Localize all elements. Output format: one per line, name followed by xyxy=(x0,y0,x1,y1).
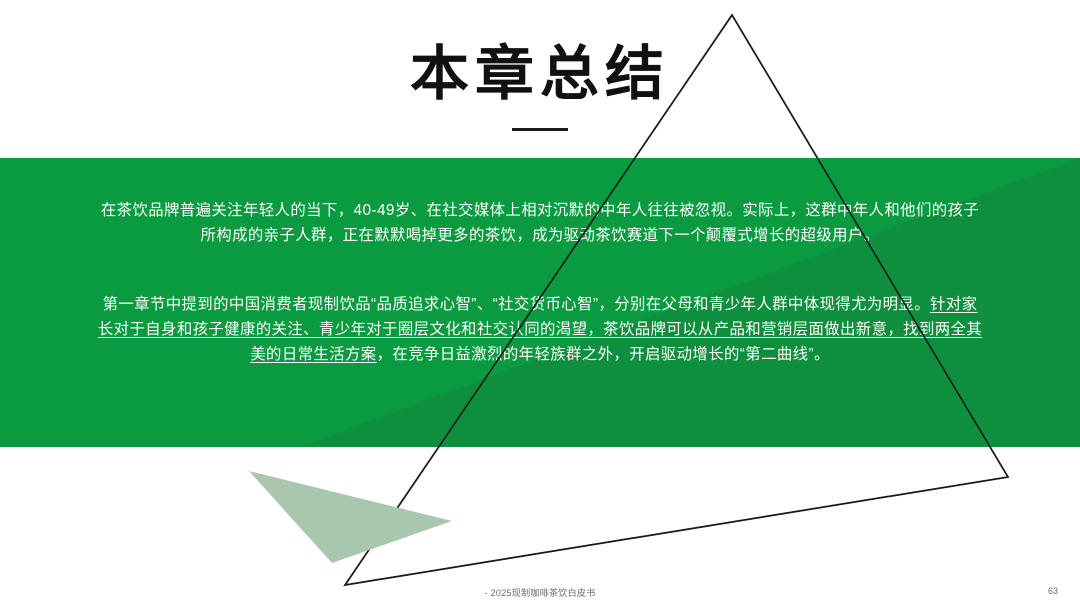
title-divider xyxy=(512,128,568,131)
summary-text-block: 在茶饮品牌普遍关注年轻人的当下，40-49岁、在社交媒体上相对沉默的中年人往往被… xyxy=(96,198,984,367)
slide-canvas: 本章总结 在茶饮品牌普遍关注年轻人的当下，40-49岁、在社交媒体上相对沉默的中… xyxy=(0,0,1080,608)
page-number: 63 xyxy=(1048,586,1058,596)
page-title: 本章总结 xyxy=(0,44,1080,106)
paragraph-2-segment-3: ，在竞争日益激烈的年轻族群之外，开启驱动增长的“第二曲线”。 xyxy=(377,346,830,363)
title-block: 本章总结 xyxy=(0,44,1080,131)
summary-paragraph-1: 在茶饮品牌普遍关注年轻人的当下，40-49岁、在社交媒体上相对沉默的中年人往往被… xyxy=(96,198,984,248)
paragraph-1-segment-1: 在茶饮品牌普遍关注年轻人的当下，40-49岁、在社交媒体上相对沉默的中年人往往被… xyxy=(101,202,979,244)
paragraph-2-segment-1: 第一章节中提到的中国消费者现制饮品“品质追求心智”、“社交货币心智”，分别在父母… xyxy=(103,296,930,313)
sage-triangle xyxy=(249,471,452,563)
summary-paragraph-2: 第一章节中提到的中国消费者现制饮品“品质追求心智”、“社交货币心智”，分别在父母… xyxy=(96,292,984,367)
footer-note: - 2025现制咖啡茶饮白皮书 xyxy=(0,586,1080,599)
